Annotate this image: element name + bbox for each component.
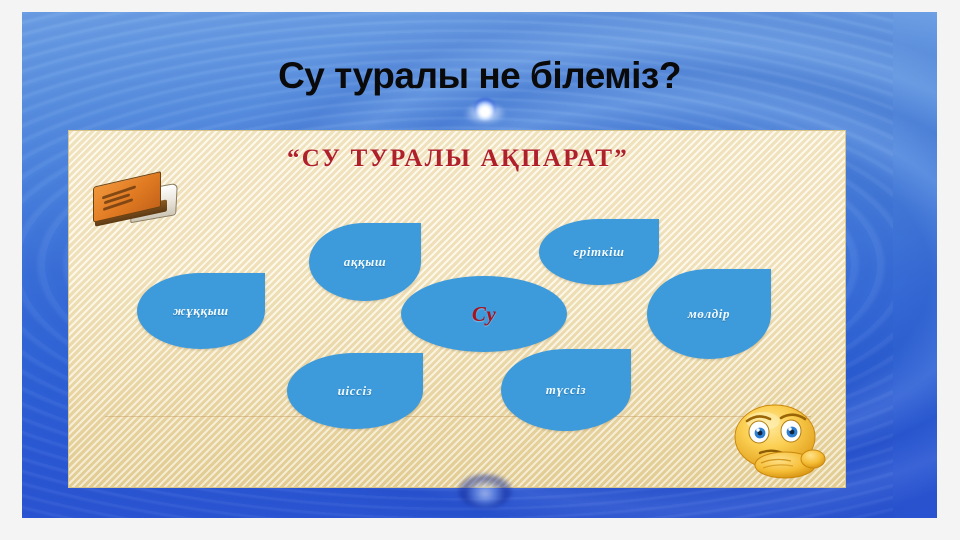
card-divider bbox=[105, 416, 811, 417]
droplet-label: еріткіш bbox=[563, 244, 634, 260]
thinking-face-icon bbox=[727, 401, 831, 481]
droplet-label: Су bbox=[462, 306, 506, 322]
presentation-slide: Су туралы не білеміз? “СУ ТУРАЛЫ АҚПАРАТ… bbox=[22, 12, 937, 518]
droplet-iissiz[interactable]: иіссіз bbox=[287, 353, 423, 429]
droplet-eritkish[interactable]: еріткіш bbox=[539, 219, 659, 285]
droplet-label: түссіз bbox=[536, 382, 596, 398]
droplet-label: жұққыш bbox=[163, 303, 239, 319]
book-icon bbox=[89, 171, 181, 229]
droplet-label: аққыш bbox=[334, 254, 397, 270]
card-title: “СУ ТУРАЛЫ АҚПАРАТ” bbox=[69, 145, 846, 173]
droplet-akkysh[interactable]: аққыш bbox=[309, 223, 421, 301]
info-card: “СУ ТУРАЛЫ АҚПАРАТ” аққыш еріткіш жұққыш bbox=[68, 130, 846, 488]
droplet-moldir[interactable]: мөлдір bbox=[647, 269, 771, 359]
page-canvas: Су туралы не білеміз? “СУ ТУРАЛЫ АҚПАРАТ… bbox=[0, 0, 960, 540]
droplet-tussiz[interactable]: түссіз bbox=[501, 349, 631, 431]
droplet-su-center[interactable]: Су bbox=[401, 276, 567, 352]
droplet-label: мөлдір bbox=[678, 306, 740, 322]
page-title: Су туралы не білеміз? bbox=[22, 54, 937, 98]
droplet-label: иіссіз bbox=[328, 383, 383, 399]
water-drop-splash-icon bbox=[462, 94, 508, 128]
droplet-zhukkysh[interactable]: жұққыш bbox=[137, 273, 265, 349]
